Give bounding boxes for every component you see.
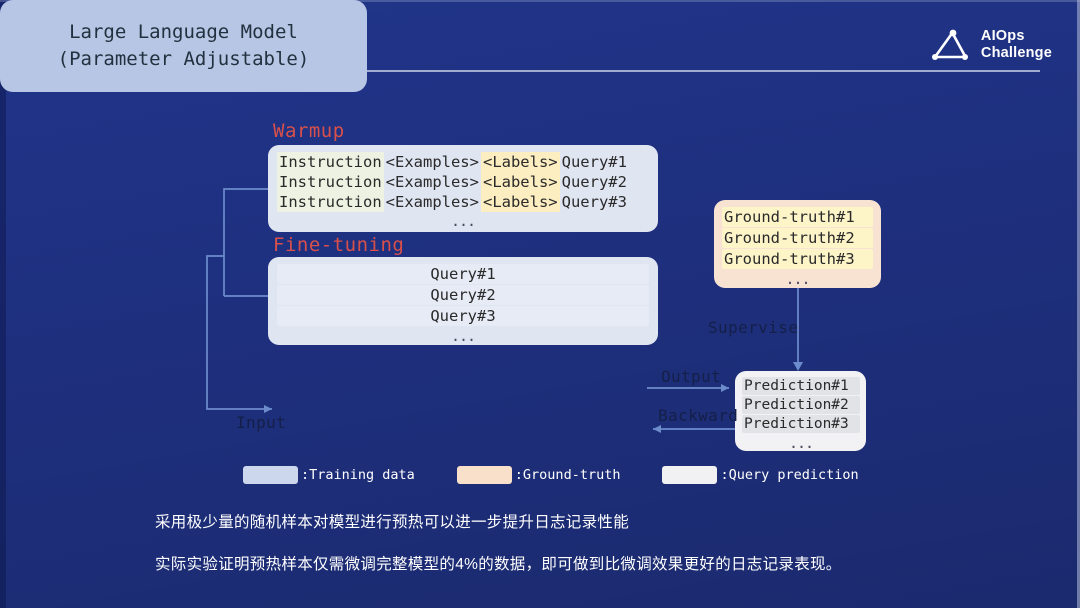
stage-label-finetuning: Fine-tuning — [273, 234, 404, 256]
finetuning-data-card[interactable]: Query#1 Query#2 Query#3 ... — [268, 257, 658, 345]
finetune-row: Query#1 — [277, 264, 649, 284]
summary-note-line-1: 采用极少量的随机样本对模型进行预热可以进一步提升日志记录性能 — [155, 510, 629, 532]
arrowhead-output — [721, 384, 729, 392]
warmup-query-tag: Query#1 — [560, 152, 629, 172]
wire-label-supervise: Supervise — [708, 318, 798, 337]
warmup-labels-tag: <Labels> — [481, 192, 560, 212]
finetune-ellipsis: ... — [277, 327, 649, 346]
prediction-row: Prediction#1 — [742, 377, 860, 395]
ground-truth-card[interactable]: Ground-truth#1 Ground-truth#2 Ground-tru… — [714, 200, 881, 288]
warmup-instruction-tag: Instruction — [277, 172, 384, 192]
warmup-row: Instruction<Examples><Labels>Query#1 — [277, 152, 649, 172]
wire-label-input: Input — [236, 413, 286, 432]
wire-warmup-to-bus — [224, 189, 268, 296]
warmup-examples-tag: <Examples> — [384, 172, 481, 192]
groundtruth-row: Ground-truth#3 — [722, 249, 873, 269]
groundtruth-ellipsis: ... — [722, 270, 873, 289]
finetune-row: Query#3 — [277, 306, 649, 326]
warmup-instruction-tag: Instruction — [277, 152, 384, 172]
warmup-row: Instruction<Examples><Labels>Query#2 — [277, 172, 649, 192]
slide-canvas: 方法实现 AIOps Challenge — [0, 0, 1080, 608]
warmup-labels-tag: <Labels> — [481, 172, 560, 192]
summary-note-line-2: 实际实验证明预热样本仅需微调完整模型的4%的数据，即可做到比微调效果更好的日志记… — [155, 552, 842, 574]
legend-swatch-training-data — [243, 466, 298, 484]
warmup-query-tag: Query#2 — [560, 172, 629, 192]
prediction-ellipsis: ... — [742, 434, 860, 453]
warmup-examples-tag: <Examples> — [384, 192, 481, 212]
finetune-row: Query#2 — [277, 285, 649, 305]
legend-label-training-data: :Training data — [301, 467, 415, 483]
groundtruth-row: Ground-truth#2 — [722, 228, 873, 248]
legend-label-ground-truth: :Ground-truth — [515, 467, 621, 483]
legend-label-query-prediction: :Query prediction — [720, 467, 858, 483]
warmup-query-tag: Query#3 — [560, 192, 629, 212]
prediction-row: Prediction#2 — [742, 396, 860, 414]
groundtruth-row: Ground-truth#1 — [722, 207, 873, 227]
legend-swatch-query-prediction — [662, 466, 717, 484]
legend-swatch-ground-truth — [457, 466, 512, 484]
legend-item-ground-truth: :Ground-truth — [457, 466, 621, 484]
wire-label-backward: Backward — [658, 406, 738, 425]
warmup-ellipsis: ... — [277, 212, 649, 231]
wire-bus-to-llm — [207, 256, 272, 409]
legend-item-training-data: :Training data — [243, 466, 415, 484]
warmup-labels-tag: <Labels> — [481, 152, 560, 172]
arrowhead-supervise — [793, 362, 803, 371]
warmup-examples-tag: <Examples> — [384, 152, 481, 172]
legend-item-query-prediction: :Query prediction — [662, 466, 858, 484]
diagram-legend: :Training data :Ground-truth :Query pred… — [243, 466, 859, 484]
warmup-row: Instruction<Examples><Labels>Query#3 — [277, 192, 649, 212]
warmup-instruction-tag: Instruction — [277, 192, 384, 212]
prediction-card[interactable]: Prediction#1 Prediction#2 Prediction#3 .… — [735, 371, 866, 451]
stage-label-warmup: Warmup — [273, 120, 345, 142]
prediction-row: Prediction#3 — [742, 415, 860, 433]
warmup-data-card[interactable]: Instruction<Examples><Labels>Query#1 Ins… — [268, 145, 658, 232]
wire-label-output: Output — [661, 367, 721, 386]
arrowhead-input — [264, 405, 272, 413]
arrowhead-backward — [653, 425, 661, 433]
